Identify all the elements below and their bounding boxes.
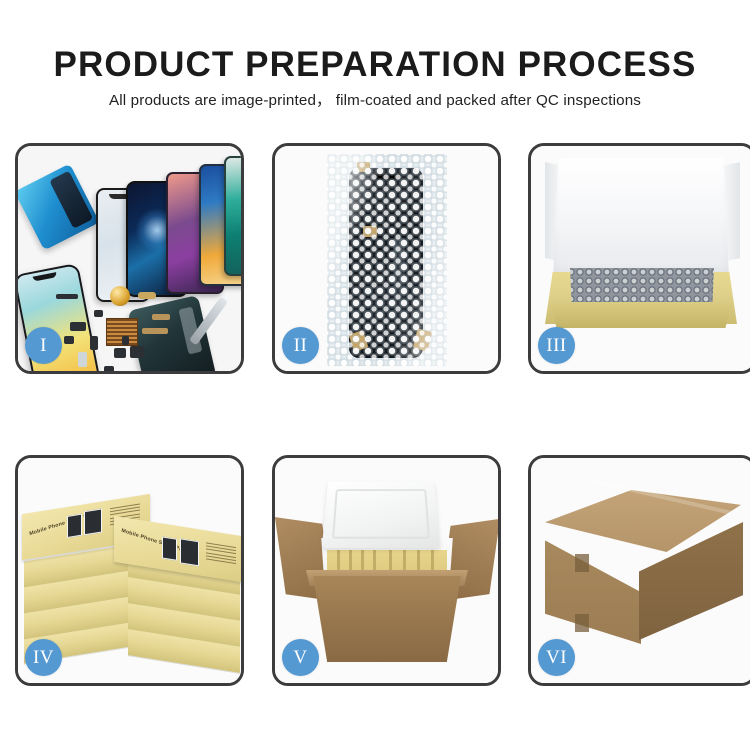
bubble-wrap-icon — [567, 268, 717, 302]
step-badge: IV — [25, 639, 62, 676]
bag-sheen — [327, 154, 447, 366]
step-badge: VI — [538, 639, 575, 676]
spare-parts-icon — [130, 346, 144, 358]
spare-parts-icon — [70, 322, 86, 331]
process-step-panel-4: Mobile Phone Spare Parts Mobile Phone Sp… — [15, 455, 244, 686]
spare-parts-icon — [104, 366, 114, 374]
box-lid-icon — [553, 158, 729, 278]
spare-parts-icon — [114, 348, 126, 358]
phone-screen-icon — [224, 156, 244, 276]
phone-print-icon — [84, 508, 102, 535]
process-step-panel-6: VI — [528, 455, 750, 686]
step-badge: III — [538, 327, 575, 364]
spare-parts-icon — [138, 292, 156, 299]
blue-foil-icon — [15, 164, 100, 251]
step-badge: I — [25, 327, 62, 364]
foam-lid-icon — [322, 481, 440, 548]
poster-root: PRODUCT PREPARATION PROCESS All products… — [0, 0, 750, 750]
carton-body — [299, 576, 475, 662]
spare-parts-icon — [94, 310, 103, 317]
bubble-wrap-icon — [327, 154, 447, 366]
spare-parts-icon — [78, 352, 87, 367]
spare-parts-icon — [142, 328, 168, 334]
spare-parts-icon — [110, 286, 130, 306]
page-title: PRODUCT PREPARATION PROCESS — [0, 47, 750, 82]
step-badge: II — [282, 327, 319, 364]
spare-parts-icon — [90, 336, 98, 350]
phone-screen-icon — [15, 263, 101, 374]
tape-seam-icon — [575, 614, 589, 632]
open-box-icon — [545, 304, 737, 328]
phone-print-icon — [67, 514, 82, 538]
sealed-carton-icon — [545, 536, 641, 644]
spare-parts-icon — [152, 314, 170, 320]
phone-print-icon — [162, 536, 177, 560]
spare-parts-icon — [64, 336, 74, 344]
process-step-panel-5: V — [272, 455, 501, 686]
spare-parts-icon — [56, 294, 78, 299]
process-step-panel-2: II — [272, 143, 501, 374]
process-step-panel-3: III — [528, 143, 750, 374]
spare-parts-icon — [122, 336, 129, 345]
step-badge: V — [282, 639, 319, 676]
process-step-panel-1: I — [15, 143, 244, 374]
page-subtitle: All products are image-printed， film-coa… — [0, 88, 750, 110]
phone-print-icon — [180, 538, 199, 566]
tape-seam-icon — [575, 554, 589, 572]
spec-lines-icon — [206, 542, 236, 566]
